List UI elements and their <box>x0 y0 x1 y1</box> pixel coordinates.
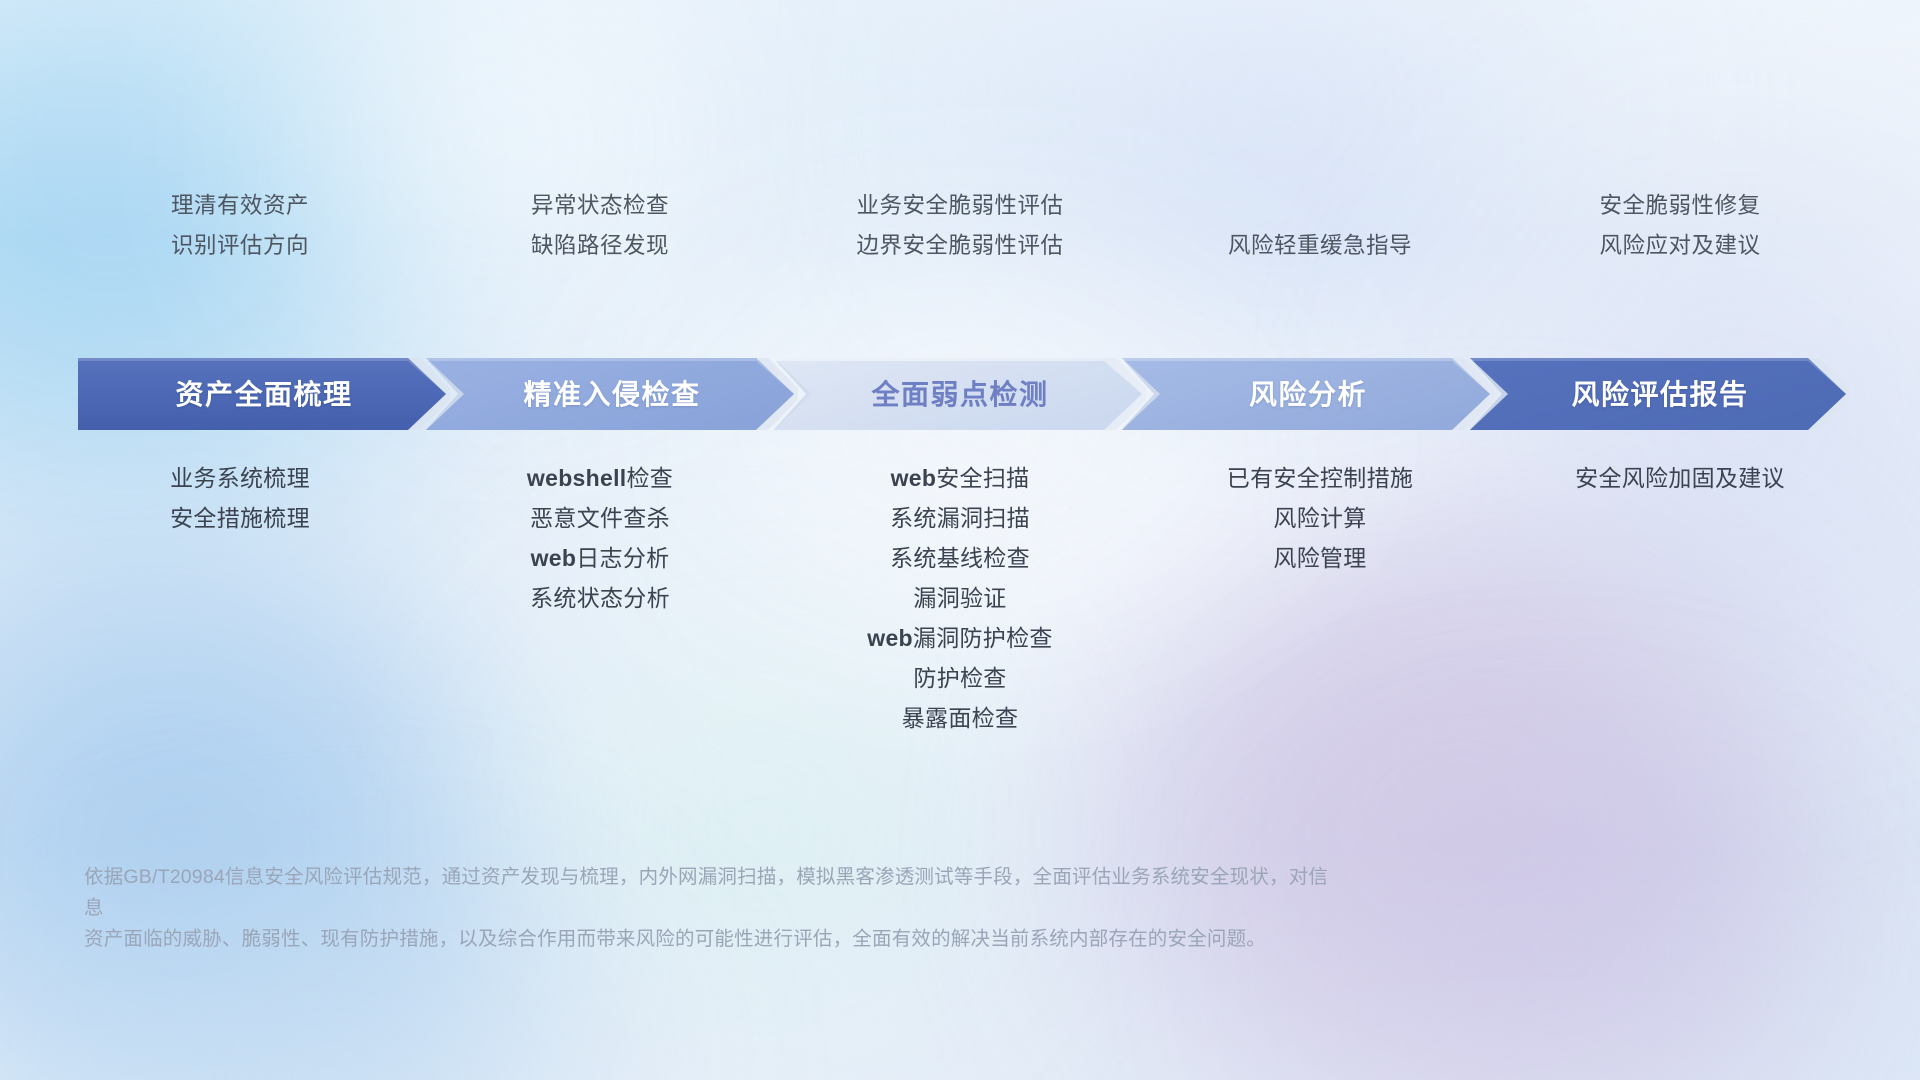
list-item: 系统基线检查 <box>780 538 1140 578</box>
list-item-cjk: 漏洞防护检查 <box>913 625 1053 651</box>
stage-title: 精准入侵检查 <box>523 373 700 413</box>
list-item-cjk: 防护检查 <box>913 665 1006 691</box>
stage-chevron-4[interactable]: 风险分析 <box>1122 358 1494 430</box>
bottom-items-stage-4: 已有安全控制措施 风险计算 风险管理 <box>1140 458 1500 738</box>
list-item: 防护检查 <box>780 658 1140 698</box>
stage-chevron-2[interactable]: 精准入侵检查 <box>426 358 798 430</box>
list-item: 风险管理 <box>1140 538 1500 578</box>
list-item: 业务系统梳理 <box>60 458 420 498</box>
top-note: 异常状态检查 <box>420 186 780 226</box>
list-item: web安全扫描 <box>780 458 1140 498</box>
list-item: 漏洞验证 <box>780 578 1140 618</box>
top-note: 缺陷路径发现 <box>420 226 780 266</box>
list-item: 系统漏洞扫描 <box>780 498 1140 538</box>
list-item-cjk: 系统漏洞扫描 <box>890 505 1030 531</box>
top-note: 边界安全脆弱性评估 <box>780 226 1140 266</box>
top-note: 识别评估方向 <box>60 226 420 266</box>
footer-line-2: 资产面临的威胁、脆弱性、现有防护措施，以及综合作用而带来风险的可能性进行评估，全… <box>84 924 1334 955</box>
footer-line-1: 依据GB/T20984信息安全风险评估规范，通过资产发现与梳理，内外网漏洞扫描，… <box>84 862 1334 924</box>
list-item: 风险计算 <box>1140 498 1500 538</box>
top-notes-row: 理清有效资产 识别评估方向 异常状态检查 缺陷路径发现 业务安全脆弱性评估 边界… <box>60 186 1860 266</box>
stage-title: 全面弱点检测 <box>871 373 1048 413</box>
list-item-cjk: 系统基线检查 <box>890 545 1030 571</box>
stage-title: 风险评估报告 <box>1571 373 1748 413</box>
list-item-cjk: 业务系统梳理 <box>170 465 310 491</box>
list-item: web漏洞防护检查 <box>780 618 1140 658</box>
list-item-cjk: 已有安全控制措施 <box>1227 465 1413 491</box>
list-item: 恶意文件查杀 <box>420 498 780 538</box>
list-item-cjk: 风险计算 <box>1273 505 1366 531</box>
top-note: 理清有效资产 <box>60 186 420 226</box>
top-notes-stage-5: 安全脆弱性修复 风险应对及建议 <box>1500 186 1860 266</box>
bottom-items-stage-3: web安全扫描 系统漏洞扫描 系统基线检查 漏洞验证 web漏洞防护检查 防护检… <box>780 458 1140 738</box>
list-item-latin: web <box>531 545 577 571</box>
top-note: 安全脆弱性修复 <box>1500 186 1860 226</box>
top-notes-stage-3: 业务安全脆弱性评估 边界安全脆弱性评估 <box>780 186 1140 266</box>
list-item-latin: web <box>891 465 937 491</box>
bottom-items-row: 业务系统梳理 安全措施梳理 webshell检查 恶意文件查杀 web日志分析 … <box>60 458 1860 738</box>
list-item-cjk: 安全措施梳理 <box>170 505 310 531</box>
list-item-cjk: 安全扫描 <box>936 465 1029 491</box>
list-item-latin: webshell <box>527 465 627 491</box>
list-item-cjk: 恶意文件查杀 <box>530 505 670 531</box>
top-notes-stage-1: 理清有效资产 识别评估方向 <box>60 186 420 266</box>
bottom-items-stage-1: 业务系统梳理 安全措施梳理 <box>60 458 420 738</box>
top-notes-stage-2: 异常状态检查 缺陷路径发现 <box>420 186 780 266</box>
top-note: 风险应对及建议 <box>1500 226 1860 266</box>
footer-description: 依据GB/T20984信息安全风险评估规范，通过资产发现与梳理，内外网漏洞扫描，… <box>84 862 1334 955</box>
stage-chevron-band: 资产全面梳理 <box>78 358 1850 430</box>
list-item-cjk: 日志分析 <box>576 545 669 571</box>
top-note: 风险轻重缓急指导 <box>1140 226 1500 266</box>
list-item: 安全措施梳理 <box>60 498 420 538</box>
list-item-cjk: 系统状态分析 <box>530 585 670 611</box>
list-item-cjk: 暴露面检查 <box>902 705 1019 731</box>
top-note: 业务安全脆弱性评估 <box>780 186 1140 226</box>
bottom-items-stage-2: webshell检查 恶意文件查杀 web日志分析 系统状态分析 <box>420 458 780 738</box>
stage-chevron-1[interactable]: 资产全面梳理 <box>78 358 450 430</box>
list-item: 安全风险加固及建议 <box>1500 458 1860 498</box>
list-item: 暴露面检查 <box>780 698 1140 738</box>
list-item-cjk: 风险管理 <box>1273 545 1366 571</box>
list-item-cjk: 漏洞验证 <box>913 585 1006 611</box>
list-item: web日志分析 <box>420 538 780 578</box>
list-item-cjk: 检查 <box>626 465 673 491</box>
stage-chevron-5[interactable]: 风险评估报告 <box>1470 358 1850 430</box>
stage-title: 风险分析 <box>1249 373 1367 413</box>
bottom-items-stage-5: 安全风险加固及建议 <box>1500 458 1860 738</box>
list-item: 系统状态分析 <box>420 578 780 618</box>
top-notes-stage-4: 风险轻重缓急指导 <box>1140 186 1500 266</box>
stage-chevron-3[interactable]: 全面弱点检测 <box>774 358 1146 430</box>
process-diagram: 理清有效资产 识别评估方向 异常状态检查 缺陷路径发现 业务安全脆弱性评估 边界… <box>0 0 1920 1080</box>
list-item: 已有安全控制措施 <box>1140 458 1500 498</box>
stage-title: 资产全面梳理 <box>175 373 352 413</box>
list-item-cjk: 安全风险加固及建议 <box>1575 465 1785 491</box>
list-item-latin: web <box>867 625 913 651</box>
list-item: webshell检查 <box>420 458 780 498</box>
